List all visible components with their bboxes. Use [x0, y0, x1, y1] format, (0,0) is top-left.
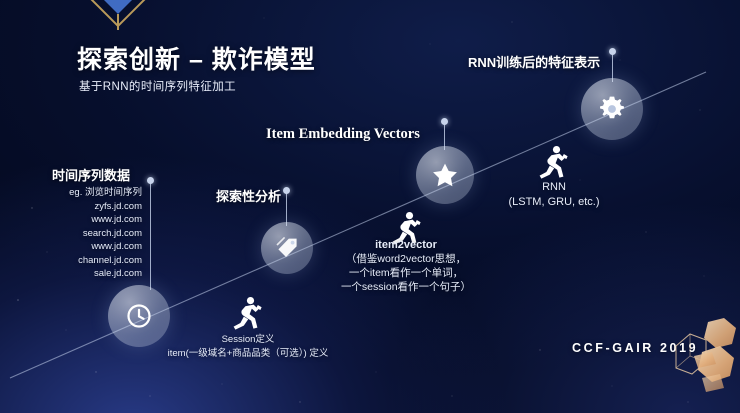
annotation-rnn-models: RNN (LSTM, GRU, etc.) [468, 180, 640, 209]
stem-exploratory-analysis [286, 190, 287, 226]
clock-icon [126, 303, 152, 329]
runner-icon-session-definition [232, 296, 262, 330]
slide-root: 探索创新 – 欺诈模型 基于RNN的时间序列特征加工 时间序列数据 eg. 浏览… [0, 0, 740, 413]
annotation-item2vector: item2vector （借鉴word2vector思想， 一个item看作一个… [296, 238, 516, 294]
runner-icon-rnn-models [538, 145, 568, 179]
node-rnn-feature-representation[interactable] [581, 78, 643, 140]
hexagon-logo-icon [672, 316, 738, 396]
stem-dot-exploratory-analysis [283, 187, 290, 194]
annotation-line: (LSTM, GRU, etc.) [468, 195, 640, 210]
detail-line: www.jd.com [0, 213, 142, 227]
stem-dot-item-embedding-vectors [441, 118, 448, 125]
annotation-session-definition: Session定义 item(一级域名+商品品类（可选）) 定义 [133, 333, 363, 360]
annotation-line: 一个item看作一个单词， [296, 266, 516, 280]
node-detail-time-series-data: eg. 浏览时间序列 zyfs.jd.com www.jd.com search… [0, 186, 142, 281]
annotation-line: 一个session看作一个句子） [296, 280, 516, 294]
gear-icon [598, 95, 626, 123]
detail-line: www.jd.com [0, 240, 142, 254]
node-heading-item-embedding-vectors: Item Embedding Vectors [266, 126, 420, 143]
stem-time-series-data [150, 180, 151, 290]
node-heading-rnn-feature-representation: RNN训练后的特征表示 [468, 52, 600, 71]
chevron-decoration [78, 0, 158, 36]
annotation-line: item(一级域名+商品品类（可选）) 定义 [133, 347, 363, 361]
detail-line: eg. 浏览时间序列 [0, 186, 142, 200]
page-title: 探索创新 – 欺诈模型 [77, 40, 316, 76]
detail-line: sale.jd.com [0, 267, 142, 281]
node-heading-exploratory-analysis: 探索性分析 [216, 186, 281, 205]
annotation-line: （借鉴word2vector思想， [296, 252, 516, 266]
annotation-line: Session定义 [133, 333, 363, 347]
stem-dot-time-series-data [147, 177, 154, 184]
detail-line: channel.jd.com [0, 254, 142, 268]
stem-dot-rnn-feature-representation [609, 48, 616, 55]
star-icon [431, 161, 459, 189]
annotation-line: RNN [468, 180, 640, 195]
node-item-embedding-vectors[interactable] [416, 146, 474, 204]
annotation-line: item2vector [296, 238, 516, 252]
detail-line: search.jd.com [0, 227, 142, 241]
page-subtitle: 基于RNN的时间序列特征加工 [79, 78, 236, 94]
node-heading-time-series-data: 时间序列数据 [52, 165, 130, 184]
detail-line: zyfs.jd.com [0, 200, 142, 214]
